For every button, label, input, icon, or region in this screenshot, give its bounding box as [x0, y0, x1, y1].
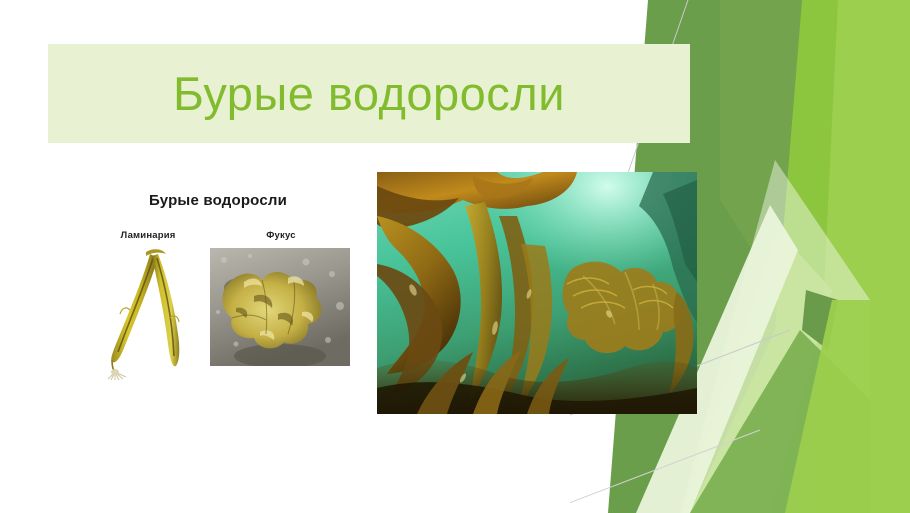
kelp-forest-photo	[377, 172, 697, 414]
figure-heading: Бурые водоросли	[78, 192, 358, 209]
specimen-fucus: Фукус	[210, 230, 352, 380]
specimen-label-laminaria: Ламинария	[100, 230, 196, 241]
specimen-label-fucus: Фукус	[210, 230, 352, 241]
seaweed-clump-icon	[210, 248, 350, 366]
seaweed-blade-icon	[100, 248, 196, 380]
presentation-slide: Бурые водоросли Бурые водоросли Ламинари…	[0, 0, 910, 513]
slide-title: Бурые водоросли	[48, 44, 690, 143]
specimen-figure: Бурые водоросли Ламинария	[78, 180, 358, 395]
specimen-laminaria: Ламинария	[100, 230, 196, 380]
kelp-forest-icon	[377, 172, 697, 414]
